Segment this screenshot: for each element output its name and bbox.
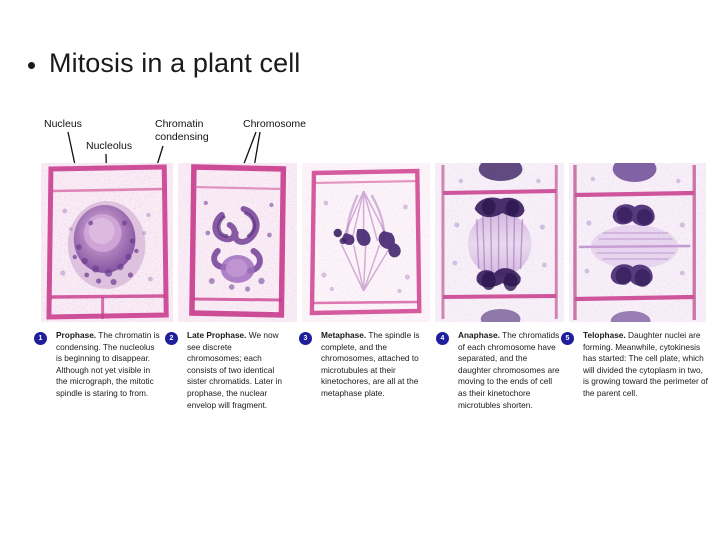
micrograph-strip	[41, 163, 706, 322]
caption-body-1: Prophase. The chromatin is condensing. T…	[56, 330, 162, 400]
caption-text-3: The spindle is complete, and the chromos…	[321, 330, 420, 398]
caption-badge-1: 1	[34, 332, 47, 345]
micrograph-panel-anaphase[interactable]	[435, 163, 564, 322]
caption-text-2: We now see discrete chromosomes; each co…	[187, 330, 282, 410]
caption-body-3: Metaphase. The spindle is complete, and …	[321, 330, 429, 400]
micrograph-panel-telophase[interactable]	[569, 163, 706, 322]
caption-body-4: Anaphase. The chromatids of each chromos…	[458, 330, 562, 411]
micrograph-panel-metaphase[interactable]	[302, 163, 429, 322]
caption-badge-4: 4	[436, 332, 449, 345]
micrograph-panel-late-prophase[interactable]	[178, 163, 297, 322]
micrograph-panel-prophase[interactable]	[41, 163, 173, 322]
caption-group: 1 Prophase. The chromatin is condensing.…	[0, 330, 720, 510]
caption-badge-3: 3	[299, 332, 312, 345]
caption-telophase: 5 Telophase. Daughter nuclei are forming…	[561, 330, 711, 400]
caption-body-2: Late Prophase. We now see discrete chrom…	[187, 330, 285, 411]
callout-label-chromosome: Chromosome	[243, 118, 306, 131]
caption-phase-4: Anaphase.	[458, 330, 500, 340]
callout-label-nucleolus: Nucleolus	[86, 140, 132, 153]
caption-text-1: The chromatin is condensing. The nucleol…	[56, 330, 160, 398]
caption-anaphase: 4 Anaphase. The chromatids of each chrom…	[436, 330, 562, 411]
caption-late-prophase: 2 Late Prophase. We now see discrete chr…	[165, 330, 285, 411]
callout-label-nucleus: Nucleus	[44, 118, 82, 131]
caption-prophase: 1 Prophase. The chromatin is condensing.…	[34, 330, 162, 400]
caption-phase-3: Metaphase.	[321, 330, 366, 340]
caption-phase-5: Telophase.	[583, 330, 626, 340]
callout-label-chromatin-condensing: Chromatin condensing	[155, 118, 209, 143]
caption-badge-2: 2	[165, 332, 178, 345]
caption-text-4: The chromatids of each chromosome have s…	[458, 330, 559, 410]
caption-metaphase: 3 Metaphase. The spindle is complete, an…	[299, 330, 429, 400]
caption-body-5: Telophase. Daughter nuclei are forming. …	[583, 330, 711, 400]
caption-phase-2: Late Prophase.	[187, 330, 246, 340]
caption-badge-5: 5	[561, 332, 574, 345]
caption-text-5: Daughter nuclei are forming. Meanwhile, …	[583, 330, 708, 398]
caption-phase-1: Prophase.	[56, 330, 96, 340]
slide-root: Mitosis in a plant cell Nucleus Nucleolu…	[0, 0, 720, 539]
